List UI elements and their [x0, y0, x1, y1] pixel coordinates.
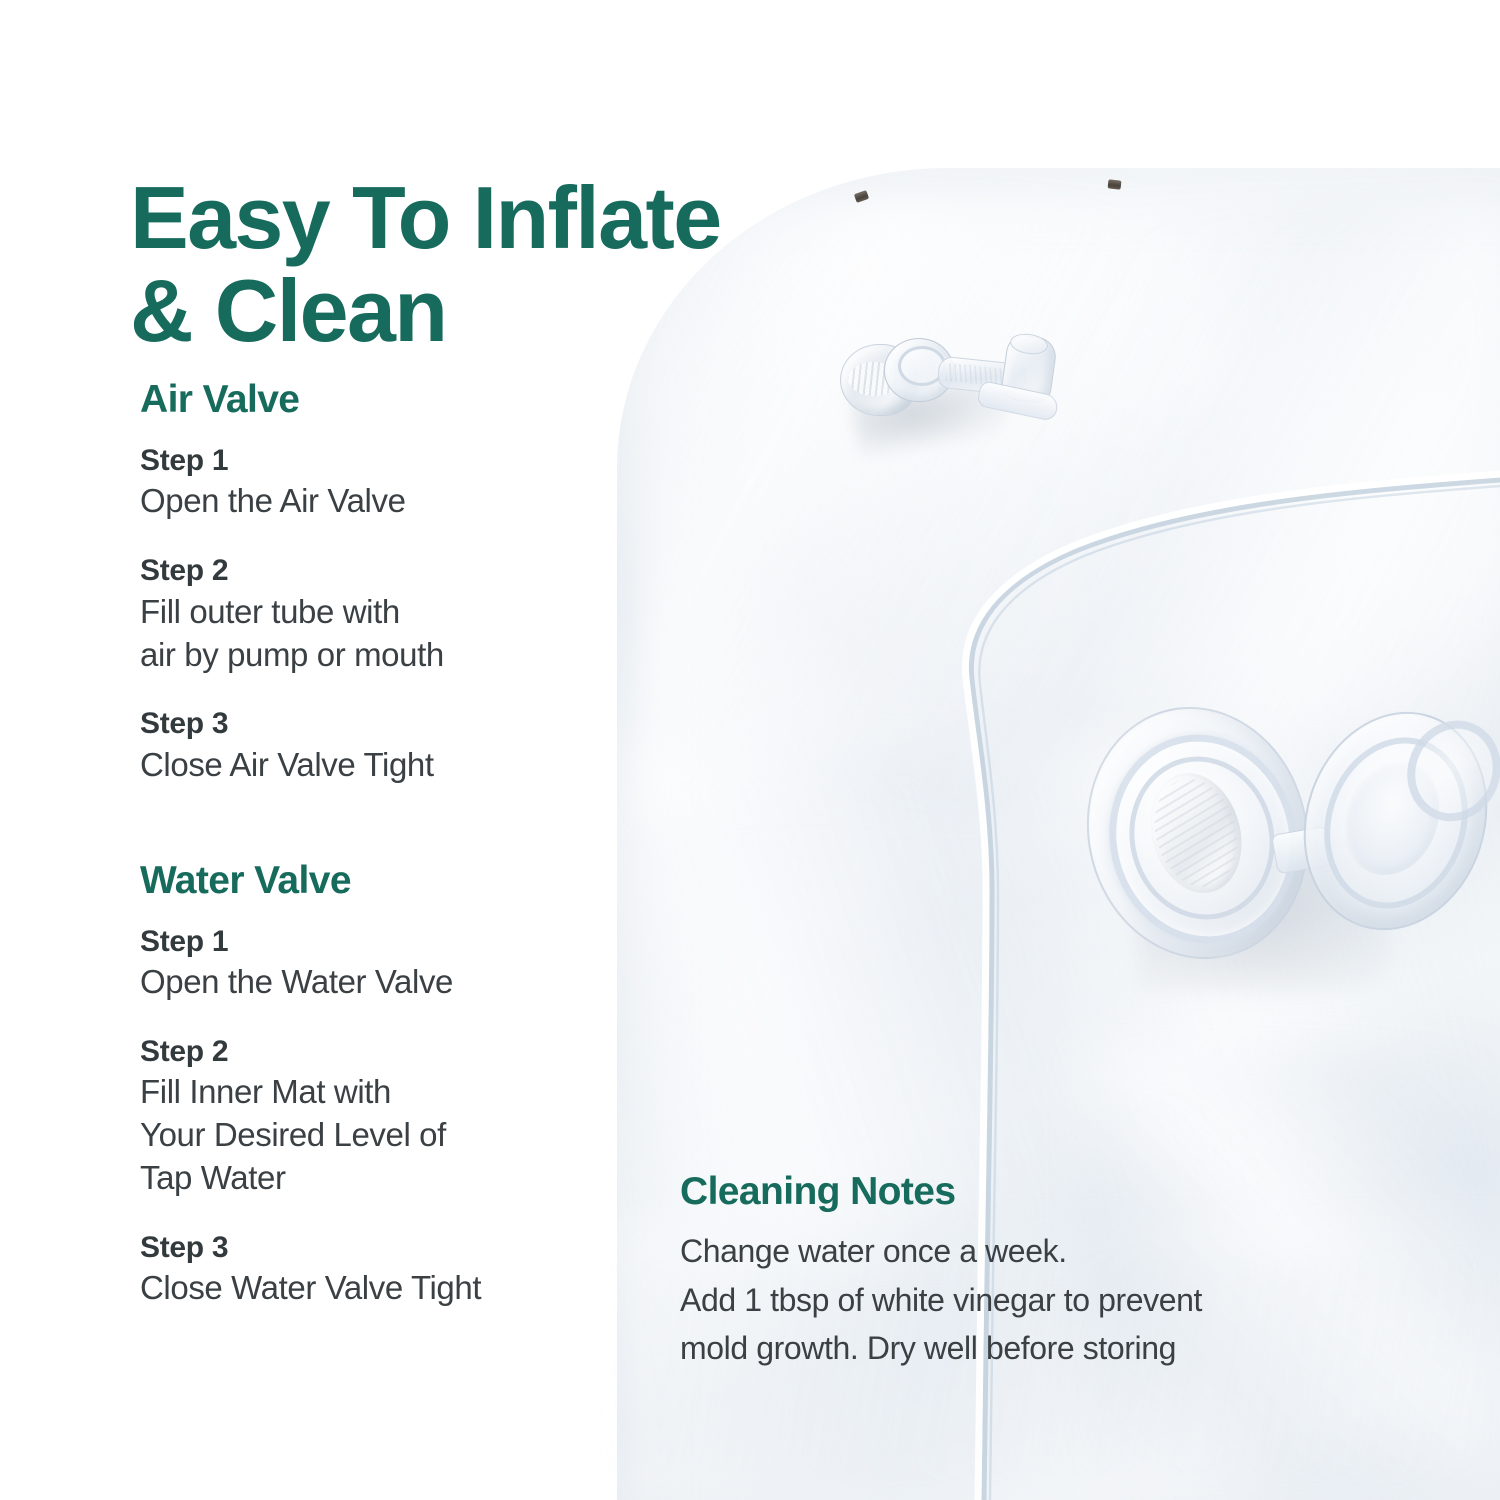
step-text: Fill outer tube with air by pump or mout… [140, 591, 610, 677]
step-label: Step 2 [140, 553, 610, 588]
steps-column: Air Valve Step 1 Open the Air Valve Step… [140, 380, 610, 1310]
section-air-valve: Air Valve Step 1 Open the Air Valve Step… [140, 380, 610, 787]
step-text: Open the Water Valve [140, 961, 610, 1004]
step-item: Step 1 Open the Water Valve [140, 924, 610, 1004]
page-title: Easy To Inflate & Clean [130, 171, 810, 358]
step-text: Close Water Valve Tight [140, 1267, 610, 1310]
step-item: Step 2 Fill Inner Mat with Your Desired … [140, 1034, 610, 1200]
step-label: Step 3 [140, 706, 610, 741]
step-item: Step 3 Close Air Valve Tight [140, 706, 610, 786]
cleaning-notes: Cleaning Notes Change water once a week.… [680, 1172, 1400, 1373]
section-water-valve: Water Valve Step 1 Open the Water Valve … [140, 861, 610, 1311]
step-label: Step 3 [140, 1230, 610, 1265]
infographic-page: Easy To Inflate & Clean Air Valve Step 1… [0, 0, 1500, 1500]
step-text: Close Air Valve Tight [140, 744, 610, 787]
text-layer: Easy To Inflate & Clean Air Valve Step 1… [0, 0, 1500, 1500]
cleaning-notes-title: Cleaning Notes [680, 1172, 1400, 1211]
step-label: Step 1 [140, 924, 610, 959]
step-label: Step 2 [140, 1034, 610, 1069]
step-label: Step 1 [140, 443, 610, 478]
cleaning-notes-body: Change water once a week. Add 1 tbsp of … [680, 1227, 1400, 1373]
step-text: Fill Inner Mat with Your Desired Level o… [140, 1071, 610, 1200]
section-title-water-valve: Water Valve [140, 861, 610, 900]
step-item: Step 3 Close Water Valve Tight [140, 1230, 610, 1310]
step-item: Step 2 Fill outer tube with air by pump … [140, 553, 610, 676]
section-title-air-valve: Air Valve [140, 380, 610, 419]
step-text: Open the Air Valve [140, 480, 610, 523]
step-item: Step 1 Open the Air Valve [140, 443, 610, 523]
